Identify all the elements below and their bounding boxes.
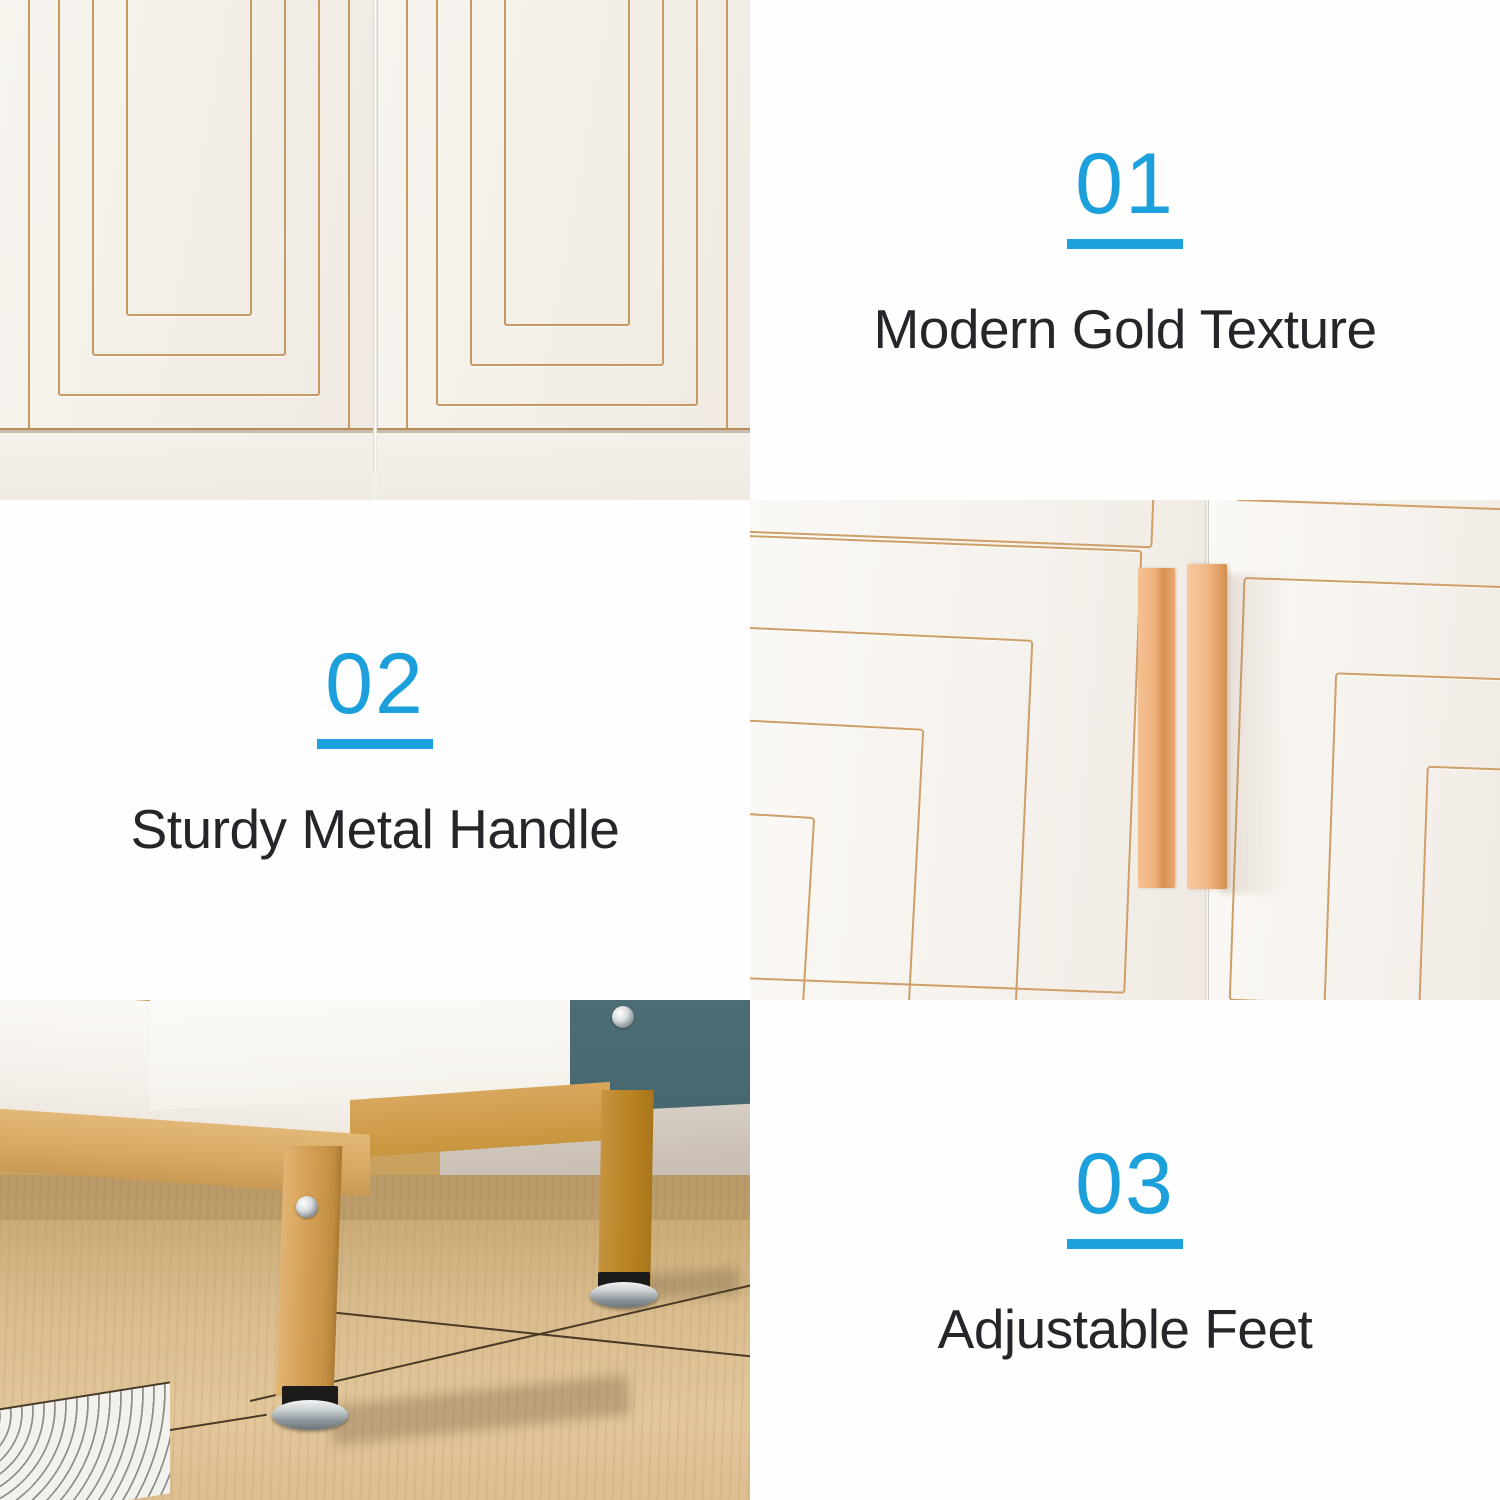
metal-handle-right[interactable] — [1187, 564, 1227, 889]
adjustable-foot-front[interactable] — [272, 1400, 348, 1430]
gold-groove-line — [750, 800, 815, 1000]
feature-caption-03: 03 Adjustable Feet — [750, 1000, 1500, 1500]
adjustable-feet-photo — [0, 1000, 750, 1500]
feature-caption-01: 01 Modern Gold Texture — [750, 0, 1500, 500]
feature-number-01: 01 — [1075, 141, 1175, 227]
screw-icon — [612, 1006, 634, 1028]
door-base-band-left — [0, 428, 373, 500]
gold-leg-front — [276, 1146, 343, 1396]
feature-title-01: Modern Gold Texture — [873, 299, 1376, 360]
feature-title-03: Adjustable Feet — [938, 1299, 1313, 1360]
feature-number-03: 03 — [1075, 1141, 1175, 1227]
door-center-gap — [373, 0, 378, 470]
feature-number-02: 02 — [325, 641, 425, 727]
cabinet-doors-gold-groove-photo — [0, 0, 750, 500]
product-feature-infographic: 01 Modern Gold Texture 02 Sturdy Metal H… — [0, 0, 1500, 1500]
gold-groove-line — [1413, 766, 1500, 1000]
feature-title-02: Sturdy Metal Handle — [131, 799, 620, 860]
adjustable-foot-back[interactable] — [590, 1282, 658, 1308]
door-base-band-right — [377, 428, 750, 500]
metal-handle-left[interactable] — [1138, 568, 1175, 888]
feature-number-underline — [317, 739, 433, 749]
door-base-shadow — [377, 430, 750, 433]
gold-metal-handle-photo — [750, 500, 1500, 1000]
feature-number-underline — [1067, 239, 1183, 249]
gold-groove-line — [504, 0, 630, 326]
door-base-shadow — [0, 430, 373, 433]
feature-number-underline — [1067, 1239, 1183, 1249]
screw-icon — [296, 1196, 318, 1218]
feature-caption-02: 02 Sturdy Metal Handle — [0, 500, 750, 1000]
handle-drop-shadow — [1220, 574, 1290, 894]
gold-groove-line — [126, 0, 252, 316]
gold-leg-back — [598, 1090, 653, 1290]
